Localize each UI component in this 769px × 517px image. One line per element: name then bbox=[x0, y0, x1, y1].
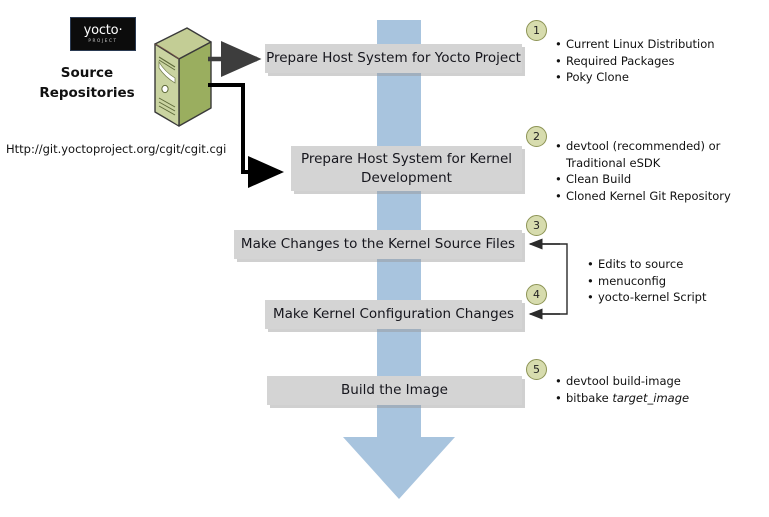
step-number-1: 1 bbox=[526, 20, 547, 41]
flow-arrow-head bbox=[343, 437, 455, 499]
server-icon bbox=[132, 26, 212, 136]
step-number-2: 2 bbox=[526, 126, 547, 147]
bitbake-command-prefix: bitbake bbox=[566, 391, 612, 405]
list-item: Clean Build bbox=[566, 171, 757, 188]
yocto-logo-subtext: PROJECT bbox=[88, 38, 117, 44]
source-repositories-line2: Repositories bbox=[32, 83, 142, 103]
list-item: devtool (recommended) or Traditional eSD… bbox=[566, 138, 757, 171]
step-number-3: 3 bbox=[526, 215, 547, 236]
bullet-list-step-5: devtool build-image bitbake target_image bbox=[552, 373, 757, 406]
list-item: yocto-kernel Script bbox=[598, 289, 764, 306]
process-box-step-2[interactable]: Prepare Host System for Kernel Developme… bbox=[291, 146, 522, 191]
yocto-logo-wordmark: yocto· bbox=[84, 24, 123, 37]
list-item: Required Packages bbox=[566, 53, 767, 70]
yocto-project-logo: yocto· PROJECT bbox=[70, 17, 136, 51]
bitbake-target-image-argument: target_image bbox=[612, 391, 689, 405]
source-repositories-label: Source Repositories bbox=[32, 63, 142, 103]
process-box-step-1[interactable]: Prepare Host System for Yocto Project bbox=[265, 44, 522, 73]
list-item: Cloned Kernel Git Repository bbox=[566, 188, 757, 205]
process-box-step-5[interactable]: Build the Image bbox=[267, 376, 522, 405]
bullet-list-steps-3-and-4: Edits to source menuconfig yocto-kernel … bbox=[584, 256, 764, 306]
list-item: Edits to source bbox=[598, 256, 764, 273]
yocto-logo-dot: · bbox=[118, 23, 122, 38]
list-item: Current Linux Distribution bbox=[566, 36, 767, 53]
list-item: menuconfig bbox=[598, 273, 764, 290]
bullet-list-step-1: Current Linux Distribution Required Pack… bbox=[552, 36, 767, 86]
list-item: Poky Clone bbox=[566, 69, 767, 86]
source-repositories-url: Http://git.yoctoproject.org/cgit/cgit.cg… bbox=[6, 142, 226, 156]
source-repositories-line1: Source bbox=[32, 63, 142, 83]
step-number-5: 5 bbox=[526, 359, 547, 380]
diagram-canvas: yocto· PROJECT Source Repositories Http:… bbox=[0, 0, 769, 517]
yocto-logo-text: yocto bbox=[84, 23, 119, 38]
process-box-step-3[interactable]: Make Changes to the Kernel Source Files bbox=[234, 230, 522, 259]
list-item: bitbake target_image bbox=[566, 390, 757, 407]
process-box-step-4[interactable]: Make Kernel Configuration Changes bbox=[265, 300, 522, 329]
bullet-list-step-2: devtool (recommended) or Traditional eSD… bbox=[552, 138, 757, 204]
list-item: devtool build-image bbox=[566, 373, 757, 390]
step-number-4: 4 bbox=[526, 284, 547, 305]
